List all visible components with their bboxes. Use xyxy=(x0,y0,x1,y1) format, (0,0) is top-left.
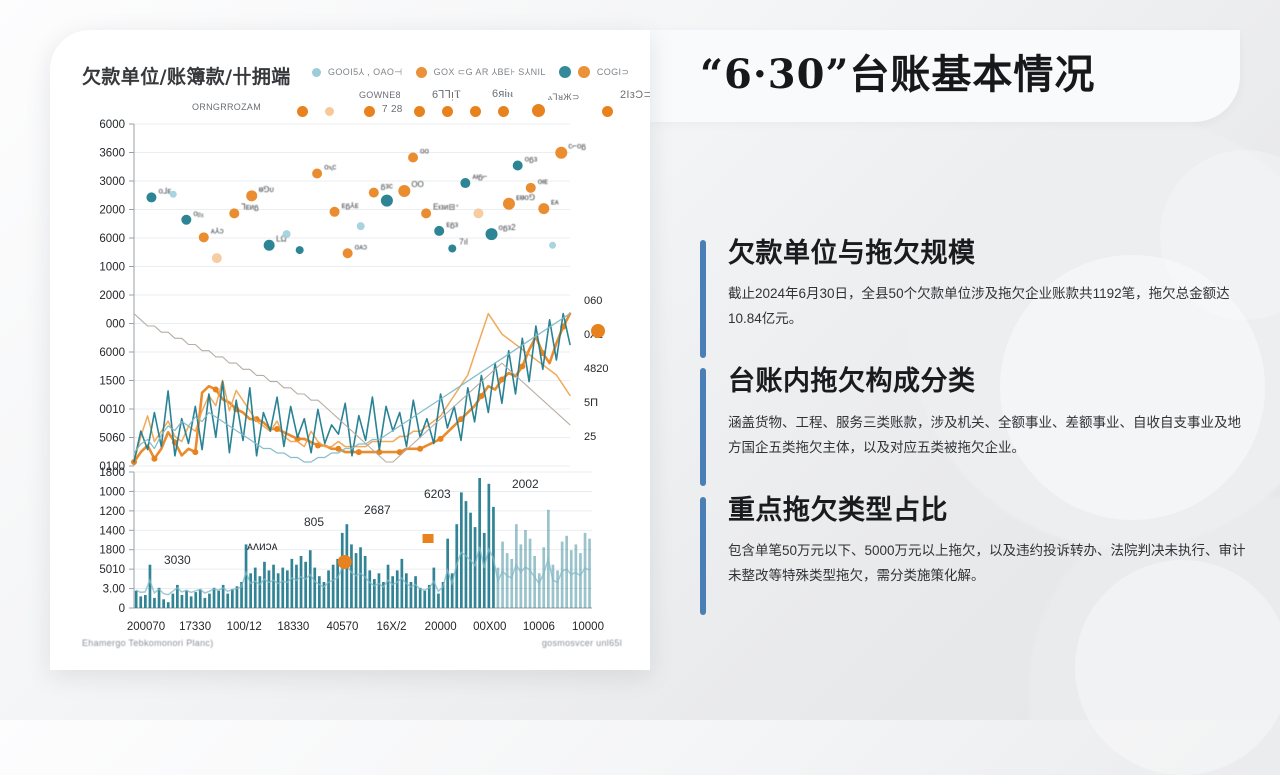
svg-text:2000: 2000 xyxy=(99,290,125,302)
svg-text:ᵿ⅁ᴜ: ᵿ⅁ᴜ xyxy=(259,185,274,194)
svg-text:ᴏᵦᵪ: ᴏᵦᵪ xyxy=(193,209,204,218)
svg-text:6203: 6203 xyxy=(424,487,451,501)
svg-text:10006: 10006 xyxy=(523,621,555,633)
svg-text:1800: 1800 xyxy=(99,467,125,479)
svg-text:ᴏᵼᴇ: ᴏᵼᴇ xyxy=(538,177,548,186)
legend-swatch-3 xyxy=(559,66,571,78)
legend-swatch-2 xyxy=(416,67,427,78)
block-body-3: 包含单笔50万元以下、5000万元以上拖欠，以及违约投诉转办、法院判决未执行、审… xyxy=(728,539,1253,589)
svg-text:OO: OO xyxy=(411,180,423,189)
svg-text:0: 0 xyxy=(119,603,125,615)
chart-card: 欠款单位/账簿款/卄拥端 GOOI5⅄ , OAO⊣ GOX ⊂G AR ⅄BE… xyxy=(50,30,650,670)
svg-text:20000: 20000 xyxy=(425,621,457,633)
block-body-1: 截止2024年6月30日，全县50个欠款单位涉及拖欠企业账款共1192笔，拖欠总… xyxy=(728,282,1253,332)
legend-swatch-1 xyxy=(312,68,321,77)
svg-text:ᴏⲭᴄ: ᴏⲭᴄ xyxy=(324,162,336,171)
svg-text:ᴏ⅃ᴇ: ᴏ⅃ᴇ xyxy=(158,186,171,195)
svg-text:1400: 1400 xyxy=(99,525,125,537)
content-block-list: 欠款单位与拖欠规模 截止2024年6月30日，全县50个欠款单位涉及拖欠企业账款… xyxy=(700,238,1245,623)
svg-text:18330: 18330 xyxy=(277,621,309,633)
accent-bar-3 xyxy=(700,497,706,615)
legend2-dot-2 xyxy=(325,107,334,116)
svg-text:ᴀ⅄ᴐ: ᴀ⅄ᴐ xyxy=(211,226,224,235)
legend-label-1: GOOI5⅄ , OAO⊣ xyxy=(328,67,403,78)
svg-text:40570: 40570 xyxy=(326,621,358,633)
legend2-label-4: 6⅂⅂ᴉⲦ xyxy=(432,88,461,102)
svg-text:10000: 10000 xyxy=(572,621,604,633)
svg-text:3600: 3600 xyxy=(99,148,125,160)
chart-panel: 欠款单位/账簿款/卄拥端 GOOI5⅄ , OAO⊣ GOX ⊂G AR ⅄BE… xyxy=(72,56,628,646)
svg-text:3030: 3030 xyxy=(164,553,191,567)
svg-text:25: 25 xyxy=(584,431,596,443)
bar-chart-svg: 1800100012001400180050103.0003030ᴀᴧᴎᴐᴀ80… xyxy=(72,456,628,641)
svg-text:100/12: 100/12 xyxy=(227,621,262,633)
accent-bar-1 xyxy=(700,240,706,358)
svg-text:1000: 1000 xyxy=(99,262,125,274)
svg-text:7ıl: 7ıl xyxy=(459,237,468,246)
svg-text:ᴇᵷ⅄ᴇ: ᴇᵷ⅄ᴇ xyxy=(342,201,359,210)
legend-label-2: GOX ⊂G AR ⅄BE⊦ S⅄NIL xyxy=(434,67,546,78)
svg-text:5060: 5060 xyxy=(99,433,125,445)
upper-chart-svg: 6000360030002000600010002000000600015000… xyxy=(72,116,628,476)
svg-text:ᴏᴀᴐ: ᴏᴀᴐ xyxy=(355,242,367,251)
svg-text:⅂ᴇᴎᵷ: ⅂ᴇᴎᵷ xyxy=(241,202,259,211)
svg-text:1200: 1200 xyxy=(99,506,125,518)
svg-text:ᴀᵻᵷ⌐: ᴀᵻᵷ⌐ xyxy=(472,172,487,181)
content-block-3: 重点拖欠类型占比 包含单笔50万元以下、5000万元以上拖欠，以及违约投诉转办、… xyxy=(700,495,1245,589)
legend2-label-7: 2IᴈƆ⊃ xyxy=(620,88,650,101)
legend-swatch-4 xyxy=(578,66,590,78)
block-heading-3: 重点拖欠类型占比 xyxy=(728,495,1245,527)
legend2-label-3: 7 28 xyxy=(382,104,403,115)
legend2-label-5: 6ᴙᎥⲛ xyxy=(492,88,513,101)
svg-text:4820: 4820 xyxy=(584,363,608,375)
svg-text:6000: 6000 xyxy=(99,233,125,245)
content-block-1: 欠款单位与拖欠规模 截止2024年6月30日，全县50个欠款单位涉及拖欠企业账款… xyxy=(700,238,1245,332)
svg-text:ᴏᴏ: ᴏᴏ xyxy=(420,147,429,156)
footer-left-text: Ehamergo Tebkomonori Planc) xyxy=(82,638,214,648)
legend2-label-6: ⲁ⅂ᴚЖ⊃ xyxy=(548,92,580,103)
svg-text:ᴇᴀ: ᴇᴀ xyxy=(551,198,559,207)
footer-right-text: gosmosvcer unl65l xyxy=(542,638,622,648)
svg-text:200070: 200070 xyxy=(127,621,165,633)
svg-text:2000: 2000 xyxy=(99,205,125,217)
slide-root: “6·30”台账基本情况 欠款单位与拖欠规模 截止2024年6月30日，全县50… xyxy=(0,0,1280,720)
svg-text:3.00: 3.00 xyxy=(103,584,125,596)
svg-text:Eᵼᴈᴎ⊟⁺: Eᵼᴈᴎ⊟⁺ xyxy=(433,202,459,211)
accent-bar-2 xyxy=(700,368,706,486)
svg-text:2687: 2687 xyxy=(364,503,391,517)
svg-text:16X/2: 16X/2 xyxy=(377,621,407,633)
svg-text:ᴏᵷᴈ2: ᴏᵷᴈ2 xyxy=(499,223,517,232)
svg-text:000: 000 xyxy=(106,319,125,331)
svg-text:0010: 0010 xyxy=(99,404,125,416)
svg-text:5010: 5010 xyxy=(99,564,125,576)
legend2-label-2: GOWNE8 xyxy=(359,90,401,100)
svg-text:060: 060 xyxy=(584,295,602,307)
legend2-label-1: ORNGRROZAM xyxy=(192,102,261,112)
chart-legend: GOOI5⅄ , OAO⊣ GOX ⊂G AR ⅄BE⊦ S⅄NIL COGI⊃ xyxy=(312,66,635,78)
svg-text:5Π: 5Π xyxy=(584,397,598,409)
svg-text:3000: 3000 xyxy=(99,176,125,188)
svg-text:ᴀᴧᴎᴐᴀ: ᴀᴧᴎᴐᴀ xyxy=(247,539,278,553)
svg-text:6000: 6000 xyxy=(99,347,125,359)
chart-title: 欠款单位/账簿款/卄拥端 xyxy=(82,62,291,89)
svg-text:ᴄ⌐ᴏᵷ: ᴄ⌐ᴏᵷ xyxy=(568,142,586,151)
svg-text:ᴇᵷᴈ: ᴇᵷᴈ xyxy=(446,220,458,229)
svg-text:17330: 17330 xyxy=(179,621,211,633)
legend-label-4: COGI⊃ xyxy=(597,67,630,78)
svg-text:1500: 1500 xyxy=(99,376,125,388)
block-heading-2: 台账内拖欠构成分类 xyxy=(728,366,1245,398)
chart-footer: Ehamergo Tebkomonori Planc) gosmosvcer u… xyxy=(82,638,622,648)
svg-text:ᴇᵿᴏ⅁: ᴇᵿᴏ⅁ xyxy=(516,193,535,202)
content-block-2: 台账内拖欠构成分类 涵盖货物、工程、服务三类账款，涉及机关、全额事业、差额事业、… xyxy=(700,366,1245,460)
page-title: “6·30”台账基本情况 xyxy=(700,48,1240,102)
svg-text:ᵷᴈᴄ: ᵷᴈᴄ xyxy=(381,182,393,191)
svg-text:1800: 1800 xyxy=(99,545,125,557)
svg-text:00X00: 00X00 xyxy=(473,621,506,633)
block-heading-1: 欠款单位与拖欠规模 xyxy=(728,238,1245,270)
svg-text:2002: 2002 xyxy=(512,477,539,491)
block-body-2: 涵盖货物、工程、服务三类账款，涉及机关、全额事业、差额事业、自收自支事业及地方国… xyxy=(728,411,1253,461)
svg-text:ᴏᵷᴈ: ᴏᵷᴈ xyxy=(525,154,538,163)
svg-text:6000: 6000 xyxy=(99,119,125,131)
svg-text:1000: 1000 xyxy=(99,486,125,498)
svg-text:805: 805 xyxy=(304,515,324,529)
